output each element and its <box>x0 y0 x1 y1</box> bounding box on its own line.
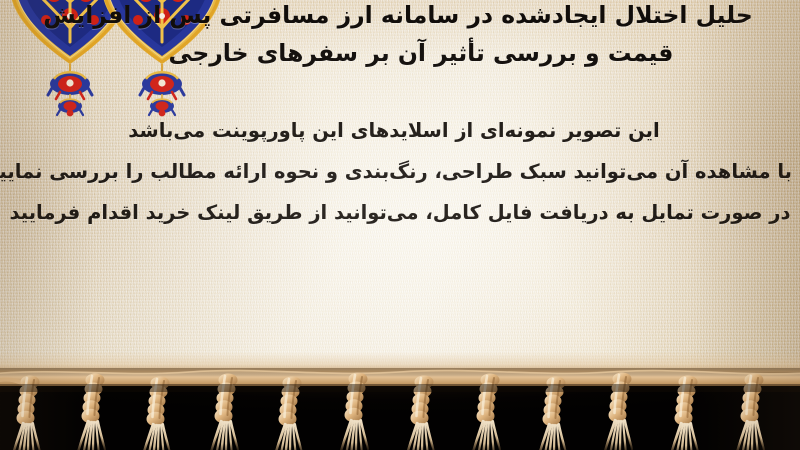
body-line-1: این تصویر نمونه‌ای از اسلایدهای این پاور… <box>6 110 782 151</box>
title-line-2: قیمت و بررسی تأثیر آن بر سفرهای خارجی <box>22 34 800 72</box>
presentation-slide: حلیل اختلال ایجادشده در سامانه ارز مسافر… <box>0 0 800 450</box>
body-line-3: در صورت تمایل به دریافت فایل کامل، می‌تو… <box>6 192 794 233</box>
knotted-tassel-fringe <box>0 352 800 450</box>
slide-body: این تصویر نمونه‌ای از اسلایدهای این پاور… <box>6 110 790 233</box>
fringe-tassels-svg <box>0 352 800 450</box>
body-line-2: با مشاهده آن می‌توانید سبک طراحی، رنگ‌بن… <box>6 151 792 192</box>
slide-text-layer: حلیل اختلال ایجادشده در سامانه ارز مسافر… <box>0 0 800 382</box>
slide-title: حلیل اختلال ایجادشده در سامانه ارز مسافر… <box>22 0 778 72</box>
title-line-1: حلیل اختلال ایجادشده در سامانه ارز مسافر… <box>22 0 774 34</box>
